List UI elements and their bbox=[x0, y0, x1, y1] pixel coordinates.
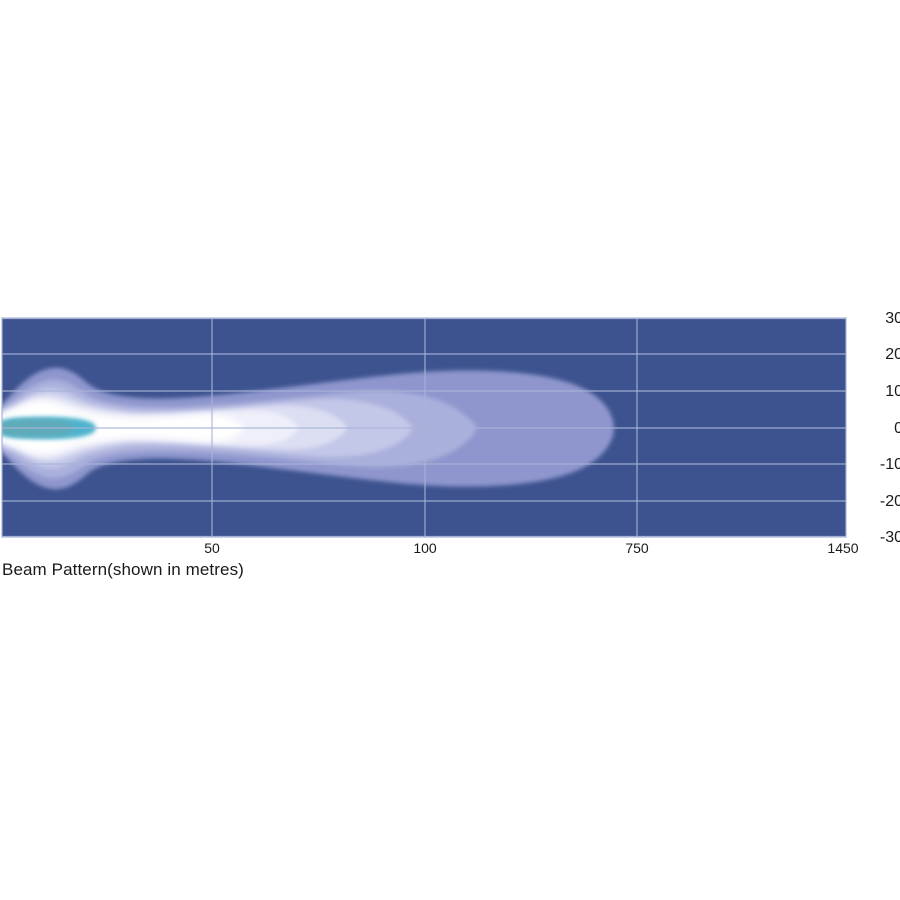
chart-caption: Beam Pattern(shown in metres) bbox=[2, 560, 244, 580]
beam-pattern-plot bbox=[0, 0, 900, 900]
y-tick-label-neg30: -30 bbox=[855, 529, 900, 547]
x-tick-label-1450: 1450 bbox=[827, 540, 858, 556]
x-tick-label-50: 50 bbox=[204, 540, 220, 556]
beam-pattern-chart: 30 20 10 0 -10 -20 -30 50 100 750 1450 B… bbox=[0, 0, 900, 900]
y-tick-label-10: 10 bbox=[855, 383, 900, 401]
y-tick-label-0: 0 bbox=[855, 420, 900, 438]
figure-canvas: 30 20 10 0 -10 -20 -30 50 100 750 1450 B… bbox=[0, 0, 900, 900]
y-tick-label-neg10: -10 bbox=[855, 456, 900, 474]
y-tick-label-neg20: -20 bbox=[855, 493, 900, 511]
x-tick-label-750: 750 bbox=[625, 540, 648, 556]
y-tick-label-30: 30 bbox=[855, 310, 900, 328]
x-tick-label-100: 100 bbox=[413, 540, 436, 556]
y-tick-label-20: 20 bbox=[855, 346, 900, 364]
